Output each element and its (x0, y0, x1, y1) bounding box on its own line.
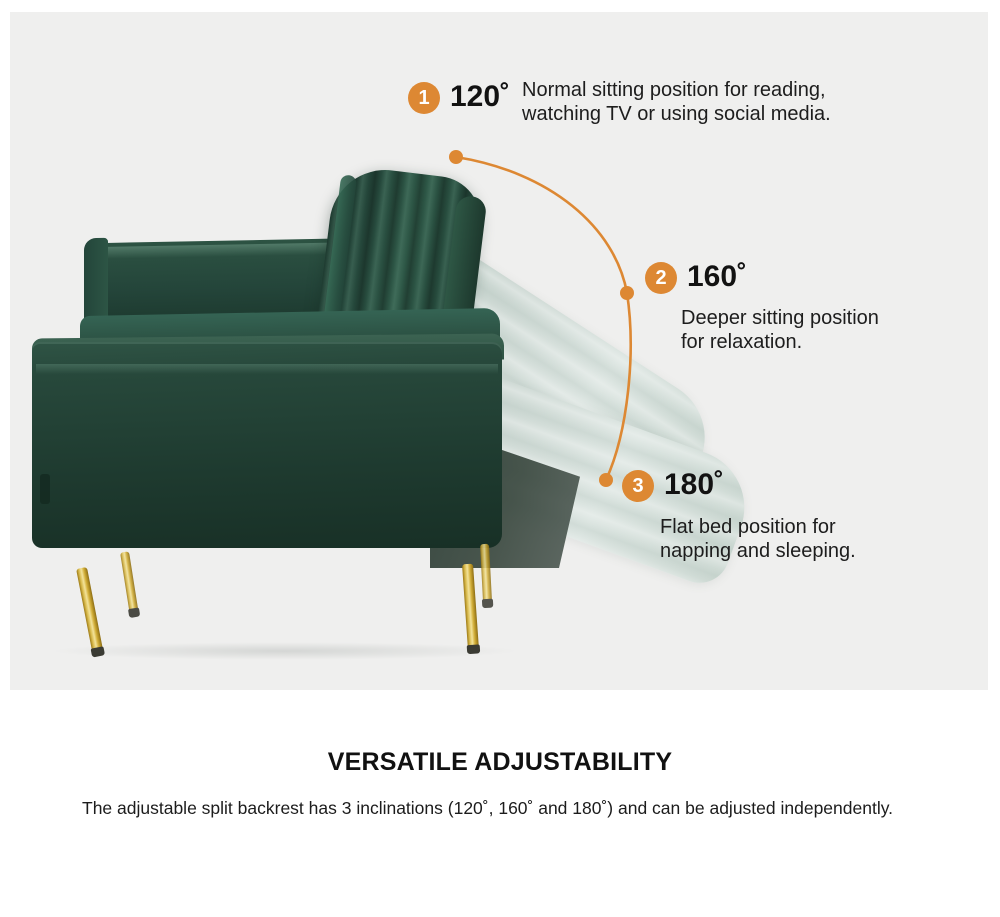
arc-dot-120 (449, 150, 463, 164)
infographic-page: 1 120˚ Normal sitting position for readi… (0, 0, 1000, 917)
callout-120-angle: 120˚ (450, 82, 510, 112)
arc-segment-1-to-2 (456, 157, 627, 293)
callout-180: 3 180˚ (622, 470, 724, 502)
callout-180-angle: 180˚ (664, 470, 724, 500)
callout-120-description: Normal sitting position for reading, wat… (522, 79, 831, 126)
callout-160-description: Deeper sitting position for relaxation. (681, 307, 879, 354)
callout-160: 2 160˚ (645, 262, 747, 294)
arc-dot-160 (620, 286, 634, 300)
callout-120: 1 120˚ Normal sitting position for readi… (408, 82, 831, 126)
footer-title: VERSATILE ADJUSTABILITY (0, 748, 1000, 777)
callout-180-description: Flat bed position for napping and sleepi… (660, 516, 856, 563)
callout-160-badge: 2 (645, 262, 677, 294)
footer-body: The adjustable split backrest has 3 incl… (82, 794, 942, 822)
callout-160-angle: 160˚ (687, 262, 747, 292)
footer-section: VERSATILE ADJUSTABILITY The adjustable s… (0, 690, 1000, 917)
arc-segment-2-to-3 (606, 293, 631, 480)
arc-dot-180 (599, 473, 613, 487)
callout-180-badge: 3 (622, 470, 654, 502)
callout-120-badge: 1 (408, 82, 440, 114)
